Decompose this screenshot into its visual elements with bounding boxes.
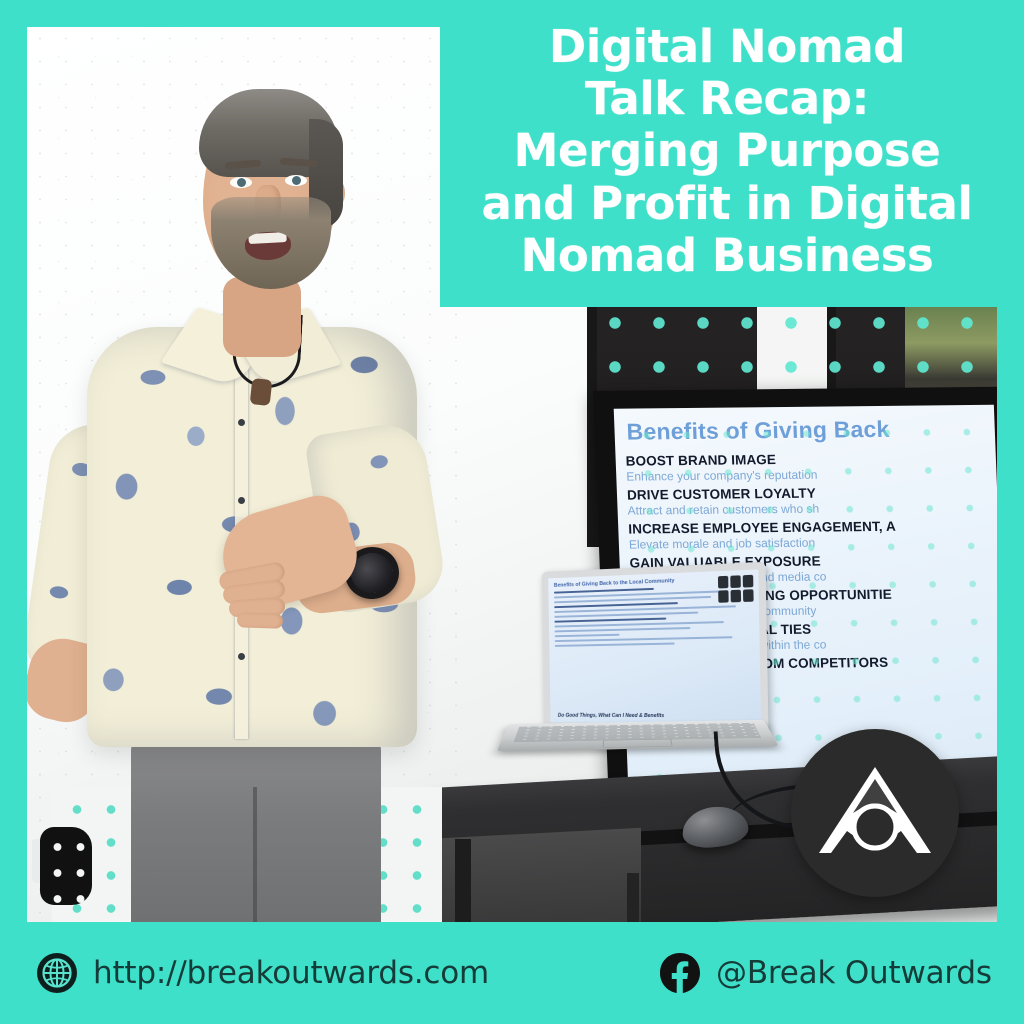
facebook-icon [659, 952, 701, 994]
title-line: Nomad Business [521, 229, 934, 282]
laptop-lid: Benefits of Giving Back to the Local Com… [542, 562, 769, 736]
shirt-button [238, 419, 245, 426]
mountain-peak-icon [813, 761, 937, 865]
title-line: Talk Recap: [585, 72, 869, 125]
eye-right [285, 175, 307, 186]
website-url: http://breakoutwards.com [93, 955, 489, 991]
speaker-figure [27, 27, 497, 922]
facebook-handle: @Break Outwards [716, 955, 992, 991]
globe-icon [36, 952, 78, 994]
doc-line [555, 627, 691, 633]
desk-leg-right [627, 873, 639, 922]
social-poster: Benefits of Giving Back BOOST BRAND IMAG… [0, 0, 1024, 1024]
video-call-grid-icon [718, 575, 754, 603]
website-link[interactable]: http://breakoutwards.com [36, 952, 489, 994]
presentation-title: Benefits of Giving Back [626, 415, 985, 446]
teeth [248, 232, 286, 244]
presentation-bullet-sub: Enhance your company's reputation [626, 466, 987, 484]
title-panel: Digital Nomad Talk Recap: Merging Purpos… [440, 0, 1024, 307]
title-line: Merging Purpose [514, 124, 941, 177]
brand-logo-badge[interactable] [791, 729, 959, 897]
laptop-screen: Benefits of Giving Back to the Local Com… [548, 569, 761, 723]
facebook-link[interactable]: @Break Outwards [659, 952, 992, 994]
title-line: and Profit in Digital [482, 177, 973, 230]
page-title: Digital Nomad Talk Recap: Merging Purpos… [482, 21, 973, 282]
finger [237, 612, 283, 629]
trouser-seam [253, 787, 257, 922]
speaker-neck [223, 277, 301, 357]
laptop-doc-caption: Do Good Things, What Can I Need & Benefi… [558, 713, 664, 719]
footer-bar: http://breakoutwards.com @Break Outwards [0, 922, 1024, 1024]
shirt-button [238, 653, 245, 660]
doc-line [555, 642, 675, 647]
presentation-bullet-sub: Attract and retain customers who sh [627, 500, 988, 518]
necklace-pendant [250, 378, 273, 406]
doc-line [555, 636, 732, 642]
presentation-bullet-sub: Elevate morale and job satisfaction [629, 534, 990, 552]
doc-line [554, 611, 698, 618]
shirt-button [238, 497, 245, 504]
eye-left [230, 177, 252, 188]
title-line: Digital Nomad [549, 20, 905, 73]
doc-line [555, 634, 620, 638]
laptop-trackpad [603, 739, 673, 748]
